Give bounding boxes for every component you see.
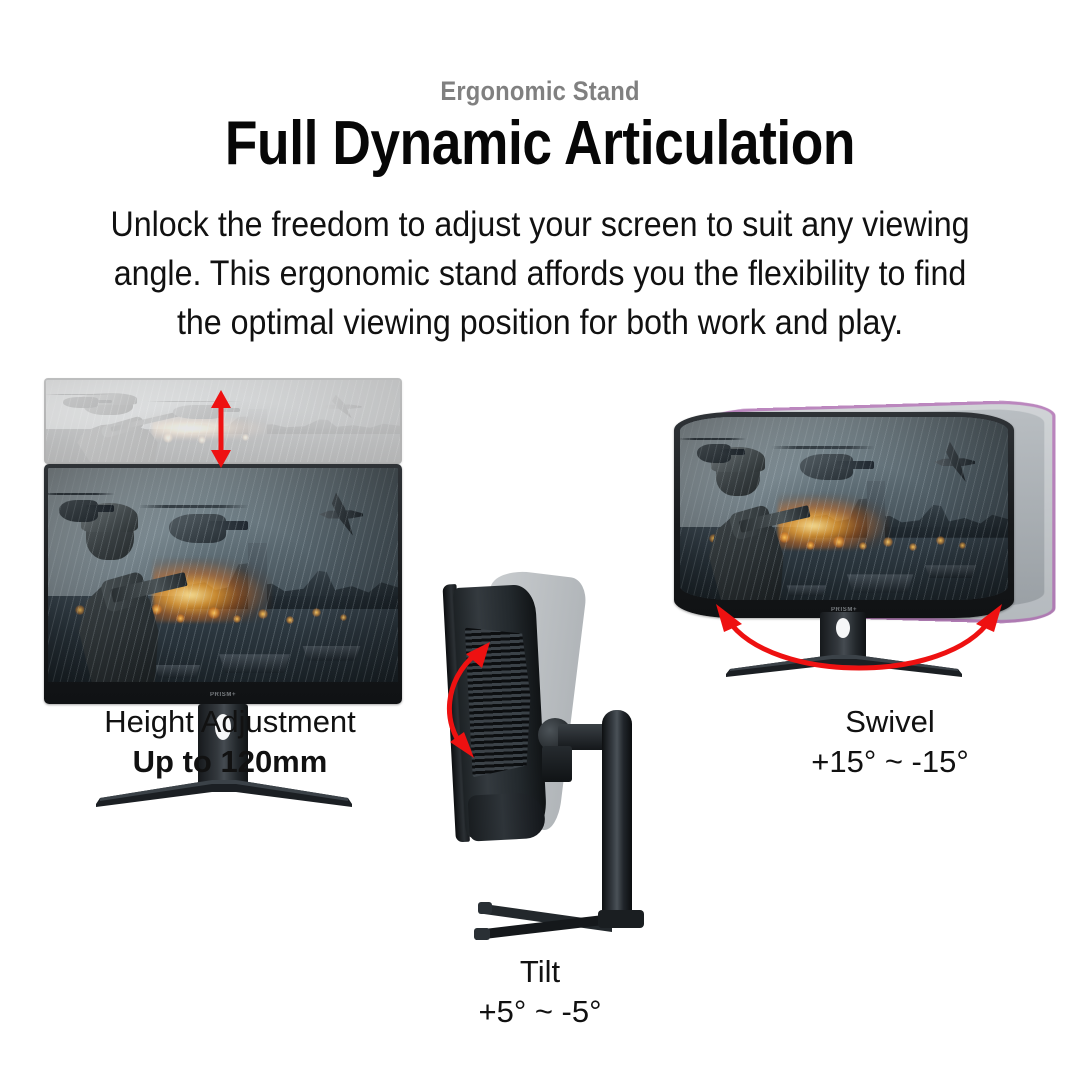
swivel-figure: PRISM+ bbox=[660, 398, 1060, 688]
tilt-figure bbox=[430, 550, 690, 940]
caption-swivel: Swivel +15° ~ -15° bbox=[680, 702, 1080, 782]
swivel-arrow-icon bbox=[694, 598, 1024, 688]
monitor-screen-curved: PRISM+ bbox=[674, 412, 1014, 618]
height-adjustment-figure: PRISM+ bbox=[30, 378, 420, 678]
caption-label: Swivel bbox=[680, 702, 1080, 742]
caption-tilt: Tilt +5° ~ -5° bbox=[390, 952, 690, 1032]
caption-label: Tilt bbox=[390, 952, 690, 992]
tilt-arrow-icon bbox=[430, 638, 506, 762]
caption-value: +5° ~ -5° bbox=[390, 992, 690, 1032]
monitor-screen-main: PRISM+ bbox=[44, 464, 402, 704]
eyebrow-label: Ergonomic Stand bbox=[65, 76, 1015, 107]
caption-value: Up to 120mm bbox=[20, 742, 440, 782]
caption-label: Height Adjustment bbox=[20, 702, 440, 742]
monitor-base-side bbox=[470, 888, 650, 940]
height-arrow-icon bbox=[208, 390, 234, 468]
page-title: Full Dynamic Articulation bbox=[76, 112, 1005, 176]
body-paragraph: Unlock the freedom to adjust your screen… bbox=[98, 200, 981, 347]
hinge-block bbox=[542, 746, 572, 782]
caption-value: +15° ~ -15° bbox=[680, 742, 1080, 782]
caption-height-adjustment: Height Adjustment Up to 120mm bbox=[20, 702, 440, 782]
infographic-page: Ergonomic Stand Full Dynamic Articulatio… bbox=[0, 0, 1080, 1080]
brand-logo: PRISM+ bbox=[210, 692, 236, 698]
